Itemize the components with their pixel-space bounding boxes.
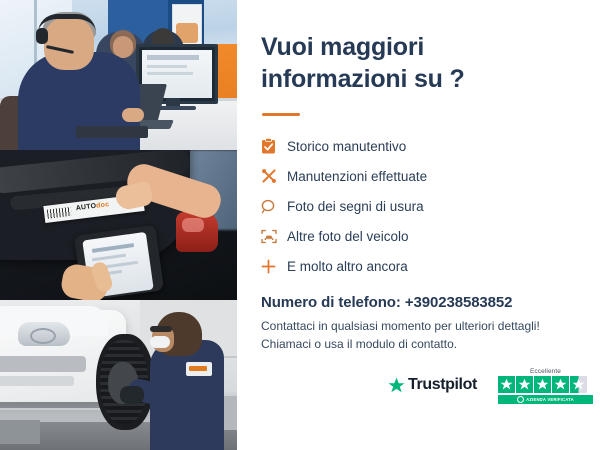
list-item[interactable]: Storico manutentivo xyxy=(261,131,511,161)
trustpilot-star-icon xyxy=(388,377,405,394)
star-rating xyxy=(498,376,593,393)
magnifier-icon xyxy=(261,199,287,214)
list-item-label: Altre foto del veicolo xyxy=(287,229,409,244)
list-item[interactable]: E molto altro ancora xyxy=(261,251,511,281)
star-filled xyxy=(498,376,515,393)
star-filled xyxy=(534,376,551,393)
trustpilot-widget[interactable]: Trustpilot Eccellente AZIENDA VERIFICATA xyxy=(388,368,593,416)
verified-badge: AZIENDA VERIFICATA xyxy=(498,395,593,404)
list-item-label: Foto dei segni di usura xyxy=(287,199,424,214)
rating-label: Eccellente xyxy=(498,368,593,375)
feature-list: Storico manutentivo Manutenzioni effettu… xyxy=(261,131,511,281)
photo-sticker-on-car: AUTOdoc xyxy=(0,150,237,300)
tools-cross-icon xyxy=(261,168,287,184)
list-item[interactable]: Foto dei segni di usura xyxy=(261,191,511,221)
contact-line-2: Chiamaci o usa il modulo di contatto. xyxy=(261,337,457,351)
plus-icon xyxy=(261,259,287,274)
star-half xyxy=(570,376,587,393)
list-item[interactable]: Manutenzioni effettuate xyxy=(261,161,511,191)
list-item-label: Manutenzioni effettuate xyxy=(287,169,427,184)
content-panel: Vuoi maggiori informazioni su ? Saremo f… xyxy=(237,0,600,450)
clipboard-check-icon xyxy=(261,138,287,154)
trustpilot-rating: Eccellente AZIENDA VERIFICATA xyxy=(498,368,593,404)
trustpilot-wordmark: Trustpilot xyxy=(408,376,477,394)
page-title: Vuoi maggiori informazioni su ? xyxy=(261,32,476,95)
list-item-label: Storico manutentivo xyxy=(287,139,406,154)
car-scan-icon xyxy=(261,229,287,244)
photo-mechanic-wheel xyxy=(0,300,237,450)
verified-label: AZIENDA VERIFICATA xyxy=(526,397,574,402)
title-underline xyxy=(262,113,300,116)
photo-call-center xyxy=(0,0,237,150)
list-item[interactable]: Altre foto del veicolo xyxy=(261,221,511,251)
verified-check-icon xyxy=(517,396,524,403)
photo-column: AUTOdoc xyxy=(0,0,237,450)
phone-number[interactable]: Numero di telefono: +390238583852 xyxy=(261,294,512,311)
star-filled xyxy=(552,376,569,393)
trustpilot-logo: Trustpilot xyxy=(388,376,477,394)
promo-card: AUTOdoc Vuoi maggiori informazioni su ? xyxy=(0,0,600,450)
star-filled xyxy=(516,376,533,393)
contact-line-1: Contattaci in qualsiasi momento per ulte… xyxy=(261,319,540,333)
list-item-label: E molto altro ancora xyxy=(287,259,408,274)
